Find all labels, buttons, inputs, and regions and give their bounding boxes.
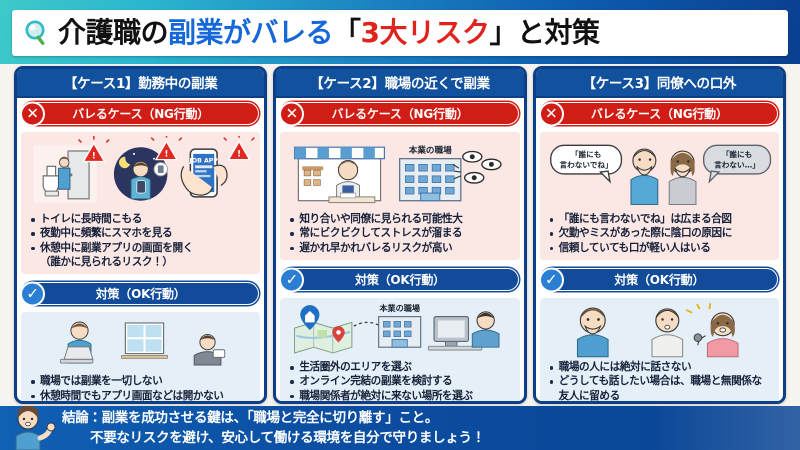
list-item: 信頼していても口が軽い人はいる [548,242,773,255]
ng-bar-label: バレるケース（NG行動） [591,105,728,122]
colleagues-whispering-illustration: 「誰にも 言わないでね」 [545,136,774,210]
list-item: トイレに長時間こもる [29,213,254,226]
ok-bar-label: 対策（OK行動） [96,285,186,302]
ok-bar: ✓ 対策（OK行動） [281,268,518,291]
cross-icon: ✕ [279,101,304,126]
ng-bar-label: バレるケース（NG行動） [332,105,469,122]
svg-text:「誰にも: 「誰にも [570,149,601,159]
case-3-ok-bullets: 職場の人には絶対に話さない どうしても話したい場合は、職場と無関係な 友人に留め… [542,361,777,404]
case-card-1: 【ケース1】勤務中の副業 ✕ バレるケース（NG行動） [14,66,267,404]
case-1-ng-bullets: トイレに長時間こもる 夜勤中に頻繁にスマホを見る 休憩中に副業アプリの画面を開く… [23,213,258,269]
case-2-ok-section: ✓ 対策（OK行動） [276,264,523,294]
case-2-ng-section: ✕ バレるケース（NG行動） [276,98,523,128]
case-2-ok-bullets: 生活圏外のエリアを選ぶ オンライン完結の副業を検討する 職場関係者が絶対に来ない… [282,361,517,403]
ok-bar: ✓ 対策（OK行動） [541,268,778,291]
conclusion-text: 結論：副業を成功させる鍵は、「職場と完全に切り離す」こと。 不要なリスクを避け、… [62,408,485,449]
case-3-ng-section: ✕ バレるケース（NG行動） [536,98,783,128]
title-part-2: 副業がバレる [168,16,333,49]
list-item: 休憩時間でもアプリ画面などは開かない [29,390,254,403]
title-part-1: 介護職の [58,16,168,49]
ok-bar-label: 対策（OK行動） [355,271,445,288]
ng-bar: ✕ バレるケース（NG行動） [281,102,518,125]
svg-text:!: ! [92,152,96,162]
case-card-1-title: 【ケース1】勤務中の副業 [17,69,264,98]
check-icon: ✓ [539,267,564,292]
ok-bar-label: 対策（OK行動） [614,271,704,288]
list-item: どうしても話したい場合は、職場と無関係な [548,375,773,388]
check-icon: ✓ [279,267,304,292]
list-item: オンライン完結の副業を検討する [288,375,513,388]
toilet-stall-night-shift-smartphone-jobapp-illustration: ! [26,136,255,210]
silent-person-and-gossip-pair-illustration [545,302,774,358]
case-3-ng-body: 「誰にも 言わないでね」 [540,132,779,260]
case-2-ng-bullets: 知り合いや同僚に見られる可能性大 常にビクビクしてストレスが溜まる 遅かれ早かれ… [282,213,517,255]
list-item: 常にビクビクしてストレスが溜まる [288,227,513,240]
list-item: 職場の人には絶対に話さない [548,361,773,374]
ng-bar-label: バレるケース（NG行動） [72,105,209,122]
list-item: 「誰にも言わないでね」は広まる合図 [548,213,773,226]
list-item: 欠勤やミスがあった際に陰口の原因に [548,227,773,240]
case-2-ok-body: 本業の職場 [280,298,519,404]
svg-text:!: ! [237,150,241,160]
list-item: 職場では副業を一切しない [29,375,254,388]
title-part-3: 「 [333,16,361,49]
title-bar: 介護職の副業がバレる「3大リスク」と対策 [12,10,788,56]
ng-bar: ✕ バレるケース（NG行動） [541,102,778,125]
cross-icon: ✕ [539,101,564,126]
list-item: 職場関係者が絶対に来ない場所を選ぶ [288,390,513,403]
case-3-ng-bullets: 「誰にも言わないでね」は広まる合図 欠勤やミスがあった際に陰口の原因に 信頼して… [542,213,777,255]
title-part-4: 3大リスク [361,16,490,49]
conclusion-banner: 結論：副業を成功させる鍵は、「職場と完全に切り離す」こと。 不要なリスクを避け、… [0,406,800,450]
case-1-ok-bullets: 職場では副業を一切しない 休憩時間でもアプリ画面などは開かない 副業は完全にプラ… [23,375,258,404]
list-item: 夜勤中に頻繁にスマホを見る [29,227,254,240]
svg-text:「誰にも: 「誰にも [721,149,752,159]
ok-bar: ✓ 対策（OK行動） [22,282,259,305]
caregiver-working-laptop-private-time-illustration [26,316,255,372]
case-card-2-title: 【ケース2】職場の近くで副業 [276,69,523,98]
list-item: 休憩中に副業アプリの画面を開く [29,242,254,255]
page-title: 介護職の副業がバレる「3大リスク」と対策 [58,19,600,47]
cross-icon: ✕ [20,101,45,126]
case-2-ng-body: 本業の職場 [280,132,519,260]
ng-bar: ✕ バレるケース（NG行動） [22,102,259,125]
case-1-ng-body: ! [21,132,260,274]
svg-text:JOB APP: JOB APP [189,157,219,164]
conclusion-line-2: 不要なリスクを避け、安心して働ける環境を自分で守りましょう！ [62,430,485,446]
map-pins-office-online-work-illustration: 本業の職場 [285,302,514,358]
list-item: （誰かに見られるリスク！） [29,256,254,269]
infographic-page: 介護職の副業がバレる「3大リスク」と対策 【ケース1】勤務中の副業 ✕ バレるケ… [0,0,800,450]
svg-text:言わない…」: 言わない…」 [714,160,760,169]
case-card-2: 【ケース2】職場の近くで副業 ✕ バレるケース（NG行動） [273,66,526,404]
case-1-ng-section: ✕ バレるケース（NG行動） [17,98,264,128]
conclusion-line-1: 結論：副業を成功させる鍵は、「職場と完全に切り離す」こと。 [62,410,438,426]
list-item: 遅かれ早かれバレるリスクが高い [288,242,513,255]
presenter-woman-icon [0,406,62,450]
header-band: 介護職の副業がバレる「3大リスク」と対策 [0,0,800,64]
case-3-ok-section: ✓ 対策（OK行動） [536,264,783,294]
shop-clerk-and-office-building-with-eyes-illustration: 本業の職場 [285,136,514,210]
case-card-3-title: 【ケース3】同僚への口外 [536,69,783,98]
list-item: 生活圏外のエリアを選ぶ [288,361,513,374]
check-icon: ✓ [20,281,45,306]
case-3-ok-body: 職場の人には絶対に話さない どうしても話したい場合は、職場と無関係な 友人に留め… [540,298,779,404]
case-1-ok-section: ✓ 対策（OK行動） [17,278,264,308]
title-part-5: 」と対策 [490,16,600,49]
case-cards-row: 【ケース1】勤務中の副業 ✕ バレるケース（NG行動） [0,66,800,404]
svg-text:本業の職場: 本業の職場 [408,144,452,156]
magnifying-glass-icon [22,18,52,48]
svg-text:本業の職場: 本業の職場 [379,303,421,313]
case-1-ok-body: 職場では副業を一切しない 休憩時間でもアプリ画面などは開かない 副業は完全にプラ… [21,312,260,404]
list-item: 友人に留める [548,390,773,403]
svg-text:!: ! [165,150,169,160]
svg-text:言わないでね」: 言わないでね」 [559,160,612,169]
case-card-3: 【ケース3】同僚への口外 ✕ バレるケース（NG行動） 「誰にも 言わな [533,66,786,404]
list-item: 知り合いや同僚に見られる可能性大 [288,213,513,226]
